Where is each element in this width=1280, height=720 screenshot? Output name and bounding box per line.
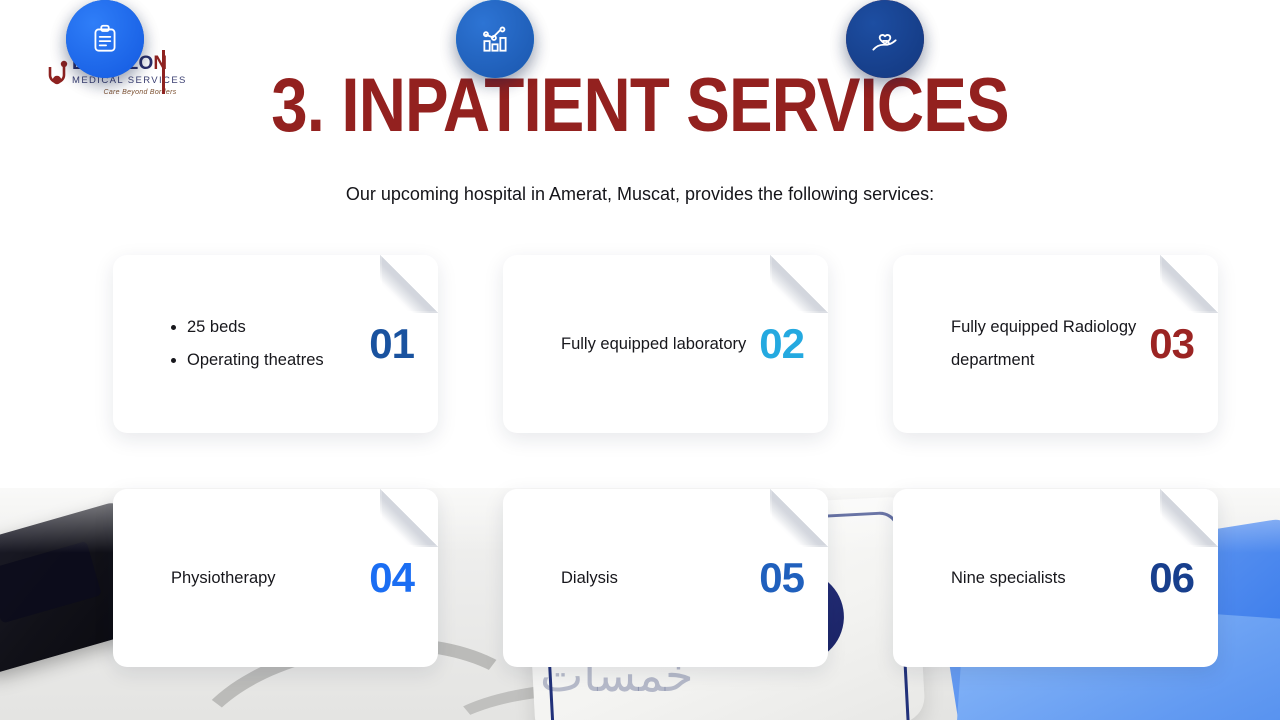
card-number: 02: [759, 255, 804, 433]
card-text: Physiotherapy: [171, 562, 276, 595]
card-number: 03: [1149, 255, 1194, 433]
card-number: 04: [369, 489, 414, 667]
list-item: Operating theatres: [187, 344, 324, 377]
card-text: Dialysis: [561, 562, 618, 595]
page-subtitle: Our upcoming hospital in Amerat, Muscat,…: [0, 184, 1280, 205]
card-bullet-list: 25 beds Operating theatres: [171, 311, 324, 377]
card-text: Fully equipped Radiology department: [951, 311, 1151, 377]
service-card-05[interactable]: Dialysis 05: [503, 489, 828, 667]
card-text: 25 beds Operating theatres: [171, 311, 324, 377]
clipboard-icon: [88, 22, 122, 56]
list-item: 25 beds: [187, 311, 324, 344]
service-icon-circle-05[interactable]: [456, 0, 534, 78]
card-body: Fully equipped Radiology department: [951, 255, 1151, 433]
card-notch: [113, 518, 143, 638]
service-icon-circle-04[interactable]: [66, 0, 144, 78]
card-notch: [503, 518, 533, 638]
service-card-04[interactable]: Physiotherapy 04: [113, 489, 438, 667]
card-number: 05: [759, 489, 804, 667]
page-title: 3. INPATIENT SERVICES: [90, 62, 1191, 149]
card-notch: [893, 518, 923, 638]
card-number: 01: [369, 255, 414, 433]
card-number: 06: [1149, 489, 1194, 667]
heart-in-hand-icon: [868, 22, 902, 56]
service-card-01[interactable]: 25 beds Operating theatres 01: [113, 255, 438, 433]
service-icon-circle-06[interactable]: [846, 0, 924, 78]
service-cards: 25 beds Operating theatres 01 Fully equi…: [0, 255, 1280, 671]
card-body: Fully equipped laboratory: [561, 255, 761, 433]
service-card-02[interactable]: Fully equipped laboratory 02: [503, 255, 828, 433]
card-body: Dialysis: [561, 489, 761, 667]
card-body: Physiotherapy: [171, 489, 371, 667]
service-card-06[interactable]: Nine specialists 06: [893, 489, 1218, 667]
slide: PULSE /min START STOP خمسات BABYLON MEDI…: [0, 0, 1280, 720]
card-text: Fully equipped laboratory: [561, 328, 746, 361]
card-notch: [113, 284, 143, 404]
card-row-top: 25 beds Operating theatres 01 Fully equi…: [0, 255, 1280, 437]
card-text: Nine specialists: [951, 562, 1066, 595]
card-body: Nine specialists: [951, 489, 1151, 667]
bar-chart-icon: [478, 22, 512, 56]
card-body: 25 beds Operating theatres: [171, 255, 371, 433]
service-card-03[interactable]: Fully equipped Radiology department 03: [893, 255, 1218, 433]
card-row-bottom: Physiotherapy 04 Dialysis 05 Nine specia…: [0, 489, 1280, 671]
card-notch: [503, 284, 533, 404]
card-notch: [893, 284, 923, 404]
